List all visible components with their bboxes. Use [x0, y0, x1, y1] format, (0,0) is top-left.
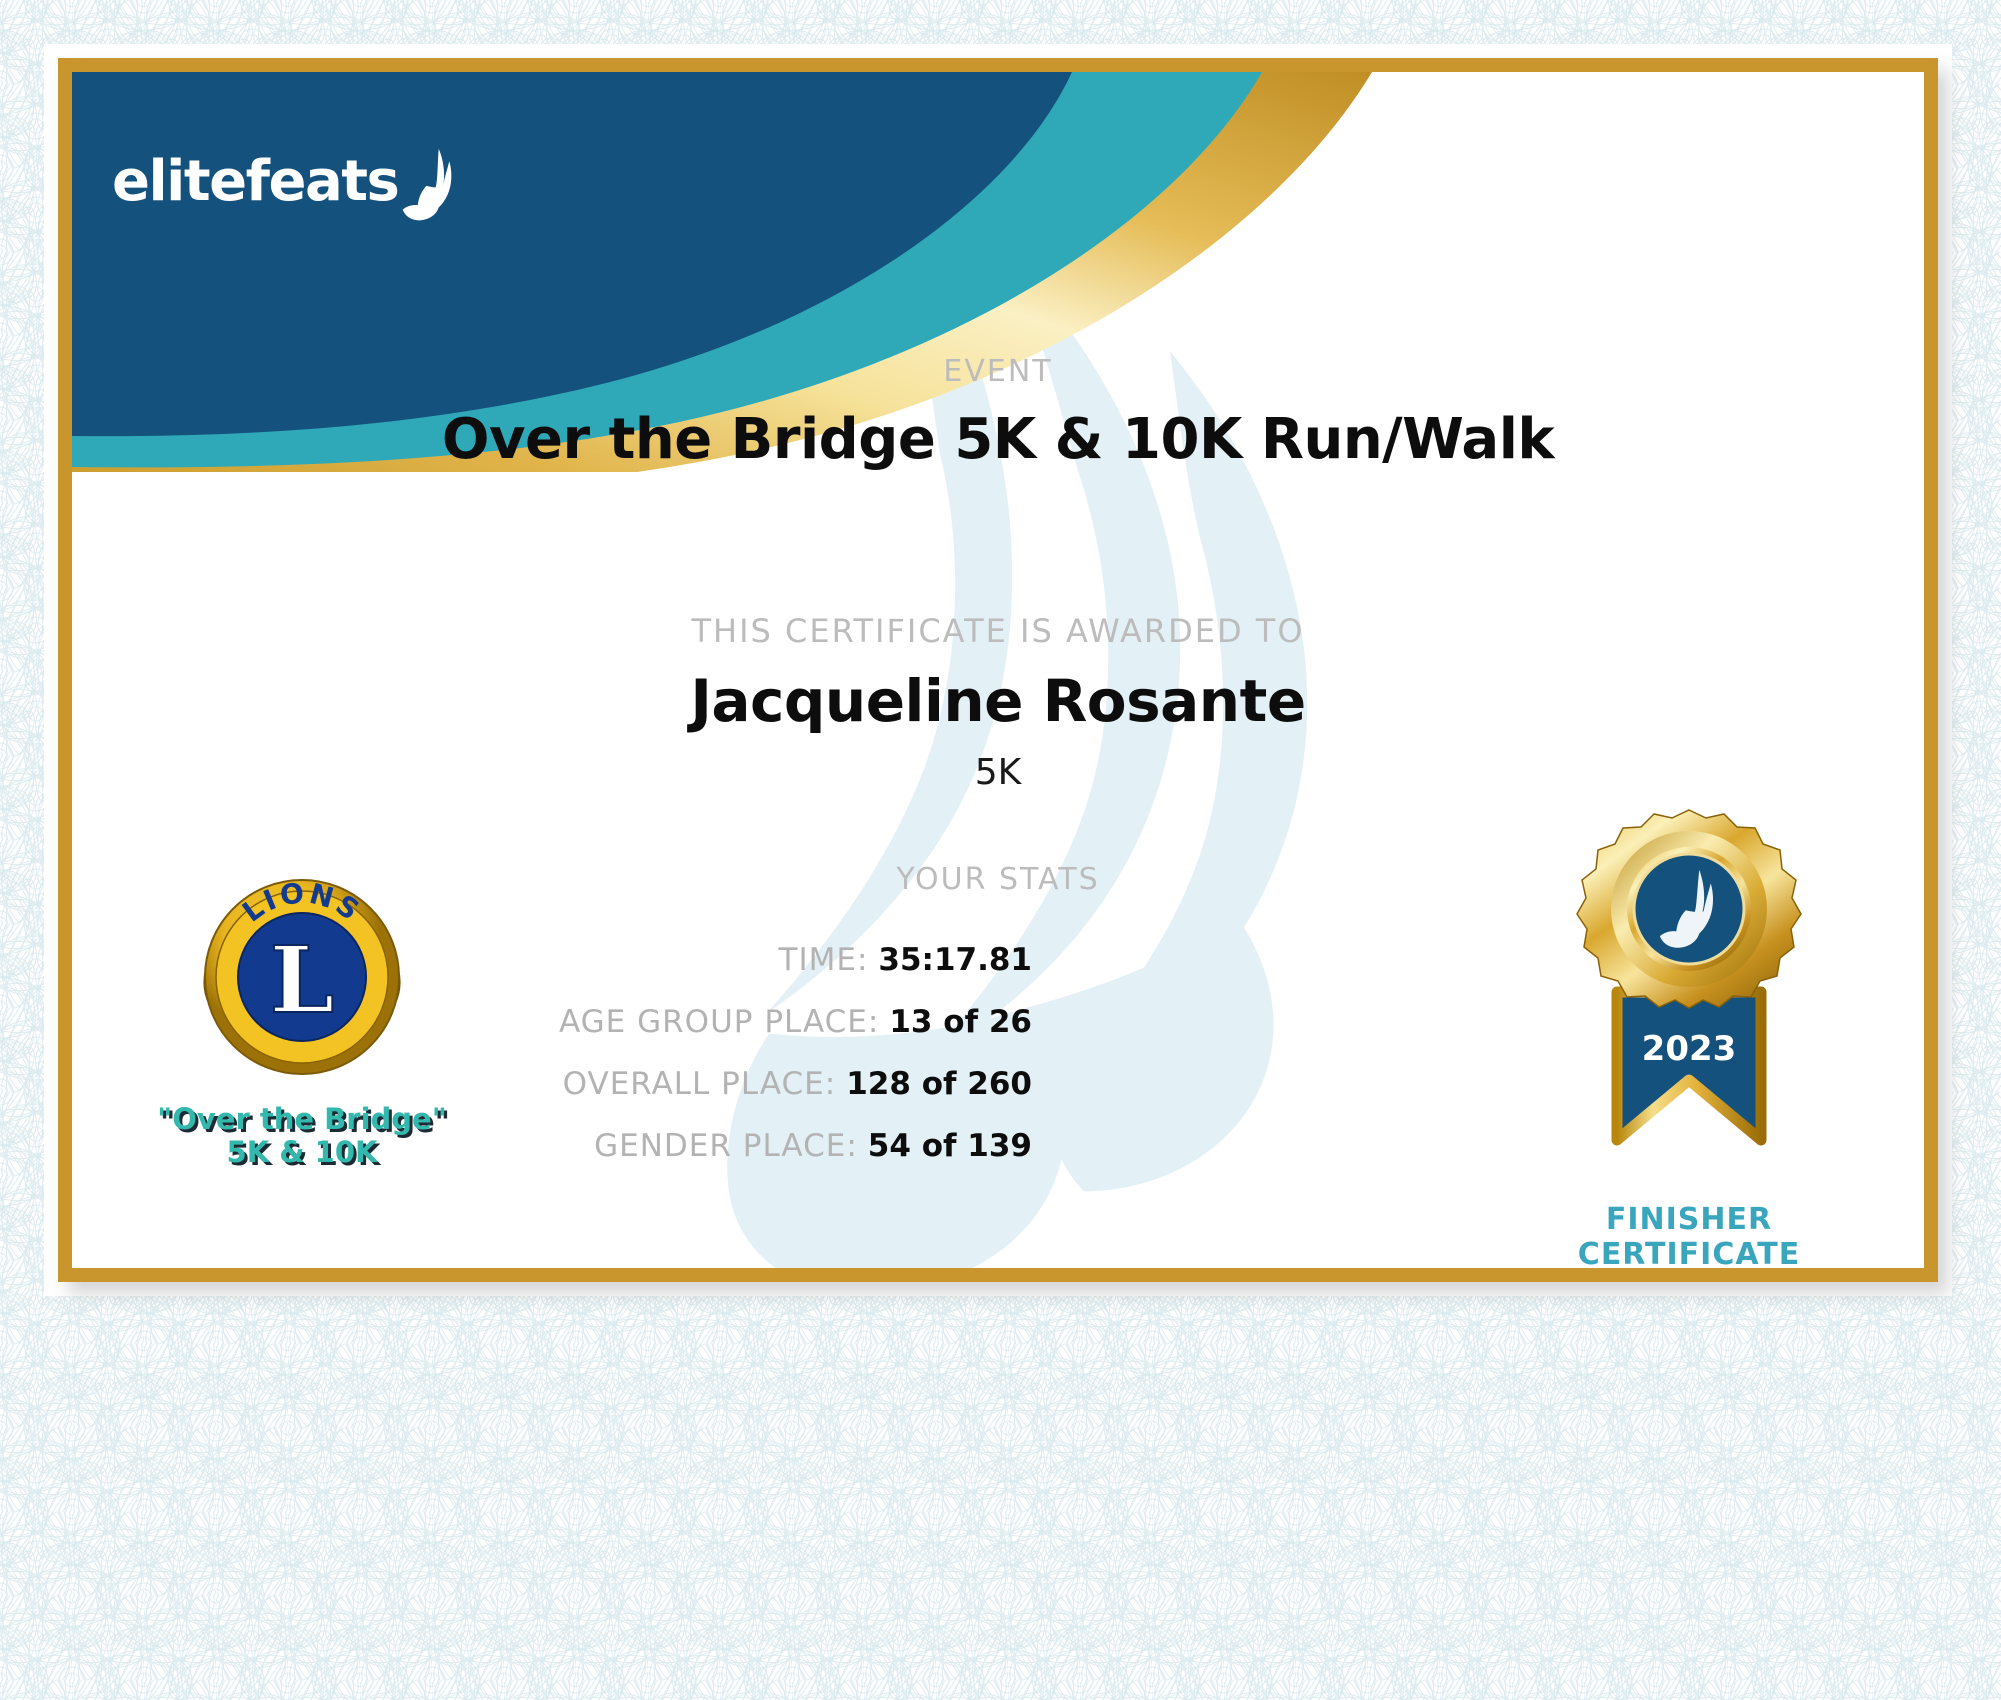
awarded-to-label: THIS CERTIFICATE IS AWARDED TO — [72, 612, 1924, 650]
elitefeats-logo-text: elitefeats — [112, 154, 398, 210]
certificate-frame: elitefeats EVENT Over the Bridge 5K & 10… — [58, 58, 1938, 1282]
stat-row-age-group-place: AGE GROUP PLACE: 13 of 26 — [452, 1004, 1032, 1040]
lions-caption-line-1: "Over the Bridge" — [152, 1103, 452, 1136]
race-distance: 5K — [72, 752, 1924, 793]
medal-caption-line-2: CERTIFICATE — [1524, 1238, 1854, 1269]
finisher-medal-block: 2023 FINISHER CERTIFICATE — [1524, 792, 1854, 1268]
stat-value: 54 of 139 — [868, 1128, 1032, 1164]
stat-value: 13 of 26 — [889, 1004, 1032, 1040]
winged-foot-icon — [400, 142, 462, 228]
stat-key: GENDER PLACE: — [594, 1128, 858, 1164]
lions-caption: "Over the Bridge" 5K & 10K — [152, 1103, 452, 1170]
stat-row-gender-place: GENDER PLACE: 54 of 139 — [452, 1128, 1032, 1164]
recipient-name: Jacqueline Rosante — [72, 667, 1924, 735]
medal-caption: FINISHER CERTIFICATE — [1524, 1203, 1854, 1268]
medal-ribbon-year: 2023 — [1642, 1029, 1737, 1069]
stat-key: AGE GROUP PLACE: — [559, 1004, 879, 1040]
lions-club-block: LIONS INTERNATIONAL L "Over the Bridge" … — [152, 862, 452, 1170]
finisher-medal-icon: 2023 — [1539, 792, 1839, 1192]
certificate-body: elitefeats EVENT Over the Bridge 5K & 10… — [72, 72, 1924, 1268]
elitefeats-logo: elitefeats — [112, 132, 462, 232]
stat-value: 128 of 260 — [846, 1066, 1032, 1102]
lions-international-emblem-icon: LIONS INTERNATIONAL L — [187, 862, 417, 1092]
stat-row-time: TIME: 35:17.81 — [452, 942, 1032, 978]
stat-key: OVERALL PLACE: — [563, 1066, 837, 1102]
stats-list: TIME: 35:17.81 AGE GROUP PLACE: 13 of 26… — [452, 942, 1032, 1190]
stat-row-overall-place: OVERALL PLACE: 128 of 260 — [452, 1066, 1032, 1102]
event-label: EVENT — [72, 354, 1924, 389]
stat-key: TIME: — [779, 942, 869, 978]
lions-emblem-letter: L — [270, 926, 335, 1034]
lions-caption-line-2: 5K & 10K — [152, 1136, 452, 1169]
event-name: Over the Bridge 5K & 10K Run/Walk — [72, 407, 1924, 472]
stat-value: 35:17.81 — [878, 942, 1032, 978]
medal-disc — [1577, 810, 1801, 1008]
medal-caption-line-1: FINISHER — [1524, 1203, 1854, 1238]
